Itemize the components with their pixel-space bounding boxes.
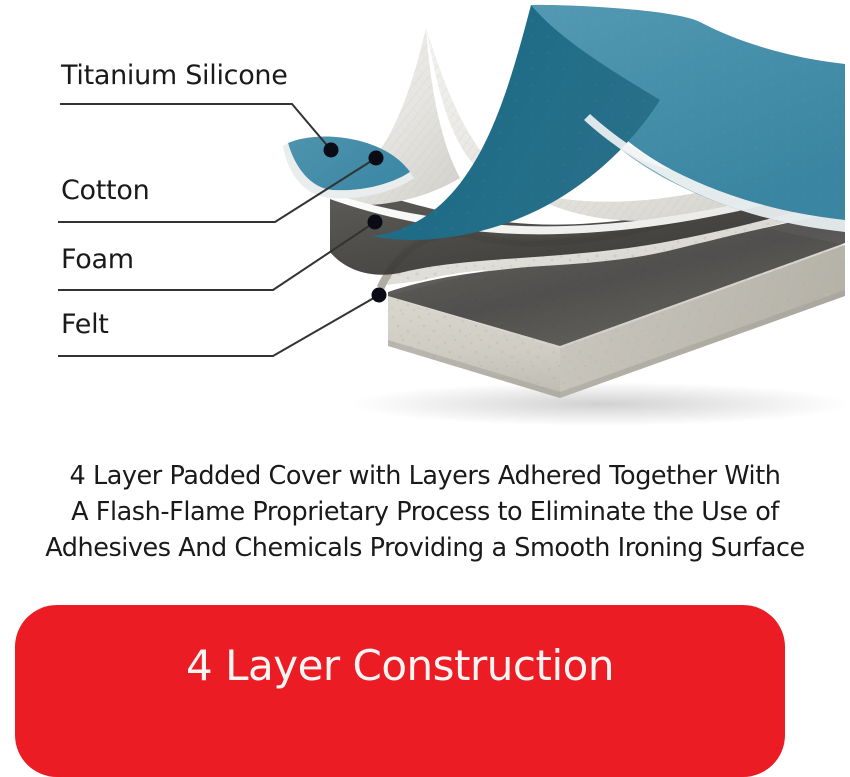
caption-line-2: A Flash-Flame Proprietary Process to Eli… — [0, 494, 850, 530]
callout-dot-titanium-silicone — [324, 143, 339, 158]
caption-line-1: 4 Layer Padded Cover with Layers Adhered… — [0, 458, 850, 494]
product-description-caption: 4 Layer Padded Cover with Layers Adhered… — [0, 458, 850, 566]
callout-dot-felt — [372, 288, 387, 303]
callout-label-felt: Felt — [61, 311, 109, 338]
callout-dot-foam — [368, 215, 383, 230]
callout-label-cotton: Cotton — [61, 177, 149, 204]
four-layer-construction-banner-label: 4 Layer Construction — [186, 645, 614, 687]
layer-diagram: Titanium Silicone Cotton Foam Felt — [0, 0, 850, 440]
four-layer-construction-banner[interactable]: 4 Layer Construction — [15, 605, 785, 777]
callout-dot-cotton — [369, 151, 384, 166]
stack-ground-shadow — [350, 382, 850, 426]
caption-line-3: Adhesives And Chemicals Providing a Smoo… — [0, 530, 850, 566]
callout-label-titanium-silicone: Titanium Silicone — [61, 62, 288, 89]
callout-label-foam: Foam — [61, 246, 134, 273]
